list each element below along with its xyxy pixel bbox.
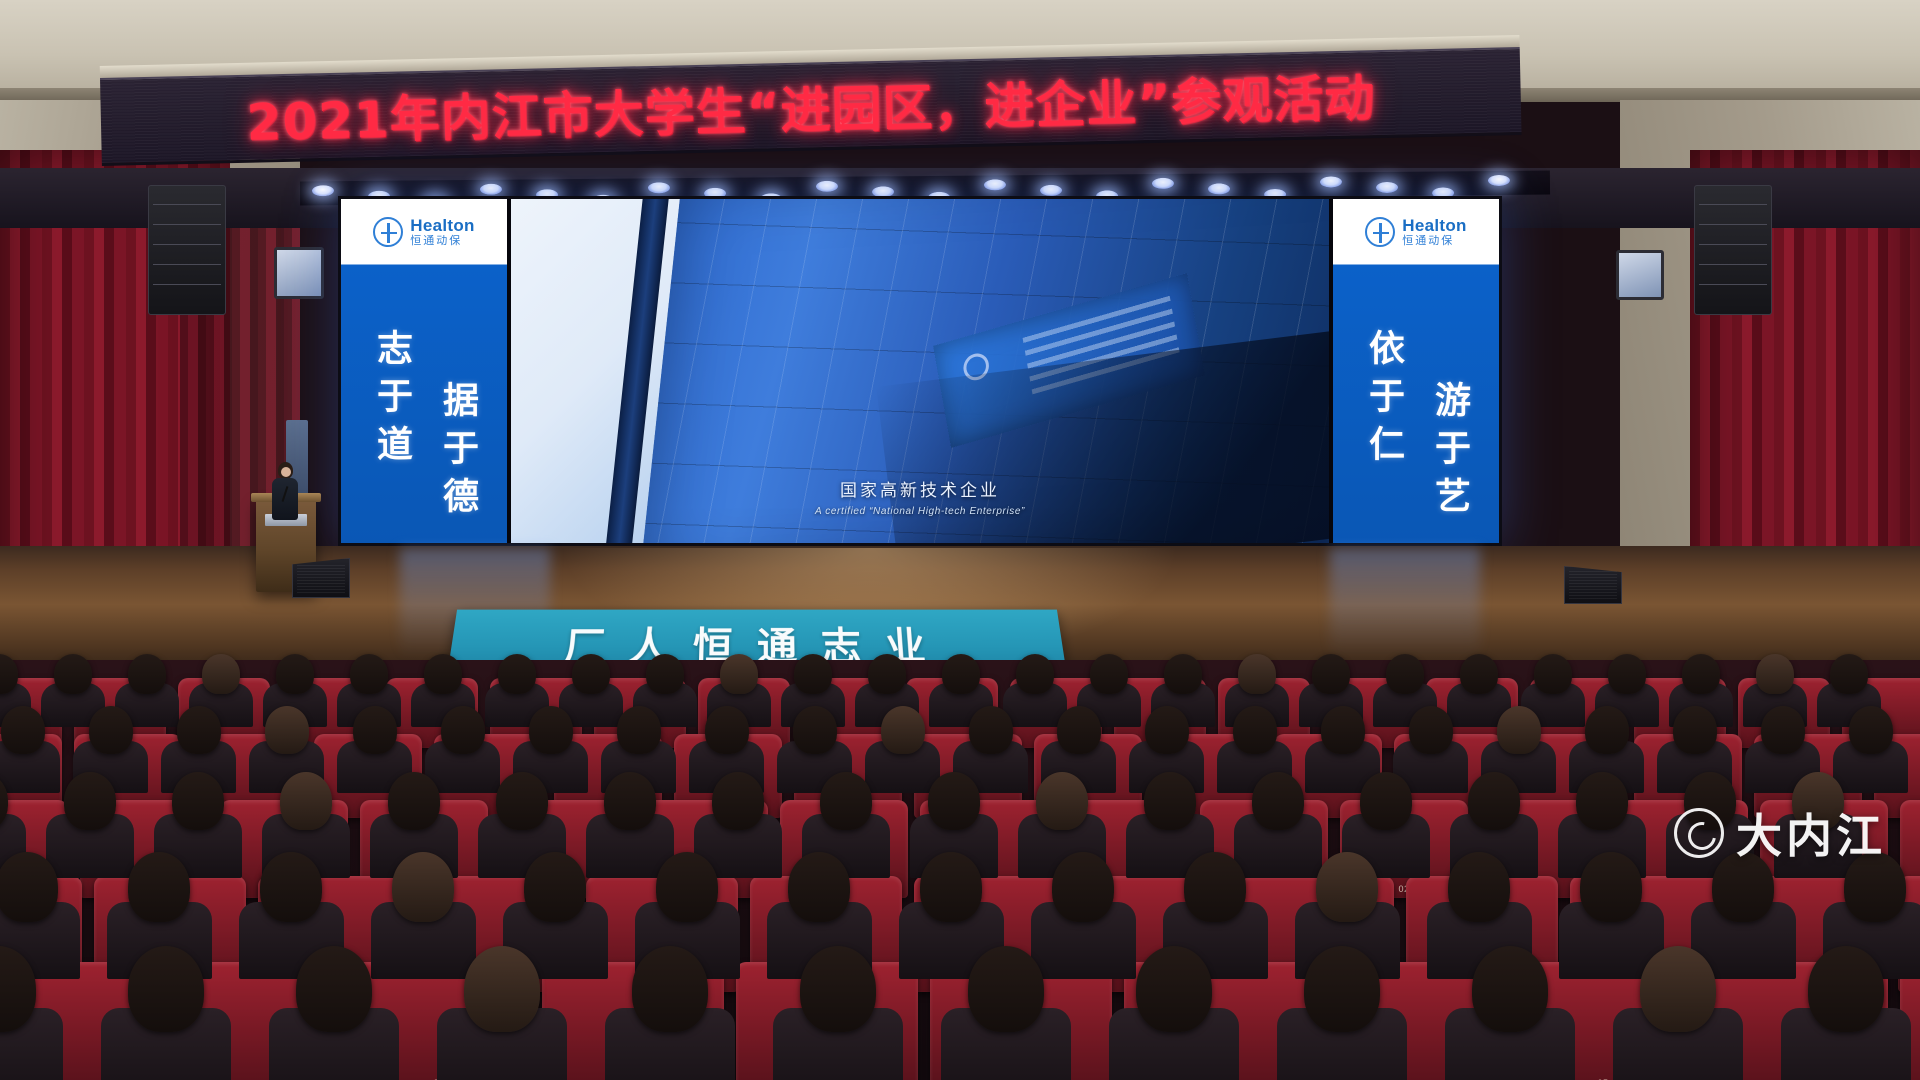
- logo-chinese-left: 恒通动保: [410, 235, 474, 247]
- audience-member-head: [1233, 706, 1277, 754]
- audience-member-head: [498, 654, 536, 694]
- floor-glow-right: [1330, 548, 1480, 658]
- audience-member-head: [720, 654, 758, 694]
- audience-member-head: [1386, 654, 1424, 694]
- screen-panel-center: 国家高新技术企业 A certified “National High-tech…: [507, 199, 1333, 543]
- audience-member-head: [942, 654, 980, 694]
- stage-light-icon: [1488, 175, 1510, 186]
- audience-member-head: [1849, 706, 1893, 754]
- screen-panel-right: Healton 恒通动保 依于仁 游于艺: [1333, 199, 1499, 543]
- audience-member-head: [572, 654, 610, 694]
- stage-light-icon: [1040, 185, 1062, 196]
- audience-member-head: [1640, 946, 1716, 1032]
- stage-light-icon: [1208, 183, 1230, 194]
- stage-light-icon: [1152, 178, 1174, 189]
- slogan-left-column-2: 据于德: [431, 381, 483, 525]
- audience-member-head: [392, 852, 454, 922]
- audience-member-head: [1576, 772, 1628, 830]
- wall-monitor-left: [274, 247, 324, 299]
- audience-member-head: [128, 946, 204, 1032]
- audience-member-head: [1136, 946, 1212, 1032]
- logo-english-left: Healton: [410, 217, 474, 235]
- audience-member-head: [1448, 852, 1510, 922]
- audience-member-head: [1460, 654, 1498, 694]
- caption-english: A certified “National High-tech Enterpri…: [507, 506, 1333, 517]
- audience-member-head: [1761, 706, 1805, 754]
- wall-monitor-right: [1616, 250, 1664, 300]
- audience-member-head: [1673, 706, 1717, 754]
- audience-member-head: [128, 654, 166, 694]
- audience-area: 0902010509020105040307070403070509020105…: [0, 660, 1920, 1080]
- audience-member-head: [1036, 772, 1088, 830]
- stage-light-icon: [480, 184, 502, 195]
- audience-member-head: [881, 706, 925, 754]
- slogan-left-column-1: 志于道: [365, 329, 417, 473]
- healton-logo-right: Healton 恒通动保: [1333, 199, 1499, 264]
- audience-member-head: [712, 772, 764, 830]
- stage-monitor-speaker-left: [292, 558, 350, 598]
- audience-member-head: [1682, 654, 1720, 694]
- audience-member-head: [928, 772, 980, 830]
- line-array-speaker-left: [148, 185, 226, 315]
- stage-light-icon: [1376, 182, 1398, 193]
- audience-member-head: [1090, 654, 1128, 694]
- audience-member-head: [1585, 706, 1629, 754]
- audience-member-head: [296, 946, 372, 1032]
- presenter-body: [272, 478, 298, 520]
- channel-watermark: 大内江: [1674, 800, 1886, 866]
- stage-light-icon: [648, 182, 670, 193]
- audience-member-head: [788, 852, 850, 922]
- caption-chinese: 国家高新技术企业: [507, 476, 1333, 501]
- audience-member-head: [424, 654, 462, 694]
- audience-member-head: [388, 772, 440, 830]
- audience-member-head: [128, 852, 190, 922]
- audience-member-head: [1497, 706, 1541, 754]
- audience-member-head: [265, 706, 309, 754]
- audience-member-head: [1, 706, 45, 754]
- audience-member-head: [969, 706, 1013, 754]
- stage-led-screen-assembly: Healton 恒通动保 志于道 据于德 国家高新技术企业 A certifie…: [338, 196, 1502, 546]
- audience-member-head: [524, 852, 586, 922]
- audience-member-head: [64, 772, 116, 830]
- slogan-left: 志于道 据于德: [341, 264, 507, 543]
- audience-member-head: [280, 772, 332, 830]
- audience-member-head: [1468, 772, 1520, 830]
- audience-member-head: [794, 654, 832, 694]
- healton-logo-left: Healton 恒通动保: [341, 199, 507, 264]
- audience-member-head: [1052, 852, 1114, 922]
- audience-member-head: [868, 654, 906, 694]
- audience-member-head: [54, 654, 92, 694]
- audience-member-head: [1830, 654, 1868, 694]
- stage-light-icon: [816, 181, 838, 192]
- audience-member-head: [353, 706, 397, 754]
- screen-panel-left: Healton 恒通动保 志于道 据于德: [341, 199, 507, 543]
- audience-member-head: [1472, 946, 1548, 1032]
- led-banner-text: 2021年内江市大学生“进园区，进企业”参观活动: [246, 58, 1376, 155]
- audience-member-head: [1145, 706, 1189, 754]
- audience-member-head: [0, 852, 58, 922]
- audience-member-head: [968, 946, 1044, 1032]
- audience-member-head: [793, 706, 837, 754]
- slogan-right-column-2: 游于艺: [1423, 381, 1475, 525]
- audience-member-head: [656, 852, 718, 922]
- line-array-speaker-right: [1694, 185, 1772, 315]
- audience-member-head: [920, 852, 982, 922]
- screenshot-root: 2021年内江市大学生“进园区，进企业”参观活动 Healton 恒通动保: [0, 0, 1920, 1080]
- audience-member-head: [1144, 772, 1196, 830]
- da-neijiang-logo-icon: [1674, 808, 1724, 858]
- presenter-face: [281, 467, 291, 477]
- audience-member-head: [1304, 946, 1380, 1032]
- audience-member-head: [177, 706, 221, 754]
- audience-member-head: [800, 946, 876, 1032]
- audience-member-head: [529, 706, 573, 754]
- logo-chinese-right: 恒通动保: [1402, 235, 1466, 247]
- audience-member-head: [820, 772, 872, 830]
- audience-member-head: [1580, 852, 1642, 922]
- audience-member-head: [604, 772, 656, 830]
- audience-member-head: [1808, 946, 1884, 1032]
- audience-member-head: [202, 654, 240, 694]
- audience-member-head: [1057, 706, 1101, 754]
- audience-member-head: [1016, 654, 1054, 694]
- screen-seam-right: [1329, 199, 1333, 543]
- center-caption: 国家高新技术企业 A certified “National High-tech…: [507, 476, 1333, 517]
- audience-member-head: [172, 772, 224, 830]
- audience-member-head: [350, 654, 388, 694]
- audience-member-head: [260, 852, 322, 922]
- audience-member-head: [1316, 852, 1378, 922]
- slogan-right-column-1: 依于仁: [1357, 329, 1409, 473]
- slogan-right: 依于仁 游于艺: [1333, 264, 1499, 543]
- stage-light-icon: [312, 185, 334, 196]
- stage-monitor-speaker-right: [1564, 566, 1622, 604]
- audience-member-head: [1238, 654, 1276, 694]
- audience-member-head: [89, 706, 133, 754]
- audience-member-head: [1534, 654, 1572, 694]
- audience-member-head: [1184, 852, 1246, 922]
- audience-member-head: [1321, 706, 1365, 754]
- audience-member-head: [1360, 772, 1412, 830]
- logo-english-right: Healton: [1402, 217, 1466, 235]
- audience-member-head: [1252, 772, 1304, 830]
- audience-member-head: [617, 706, 661, 754]
- audience-member-head: [464, 946, 540, 1032]
- healton-circle-h-icon: [373, 217, 403, 247]
- healton-circle-h-icon: [1365, 217, 1395, 247]
- stage-light-icon: [984, 179, 1006, 190]
- audience-member-head: [646, 654, 684, 694]
- screen-seam-left: [507, 199, 511, 543]
- audience-member-head: [1756, 654, 1794, 694]
- audience-member-head: [441, 706, 485, 754]
- audience-member-head: [1409, 706, 1453, 754]
- audience-member-head: [1164, 654, 1202, 694]
- audience-member-head: [705, 706, 749, 754]
- led-banner: 2021年内江市大学生“进园区，进企业”参观活动: [100, 47, 1522, 168]
- stage-light-icon: [1320, 176, 1342, 187]
- audience-member-head: [276, 654, 314, 694]
- audience-member-head: [496, 772, 548, 830]
- audience-member-head: [1608, 654, 1646, 694]
- watermark-text: 大内江: [1736, 800, 1886, 866]
- audience-member-head: [1312, 654, 1350, 694]
- audience-member-head: [632, 946, 708, 1032]
